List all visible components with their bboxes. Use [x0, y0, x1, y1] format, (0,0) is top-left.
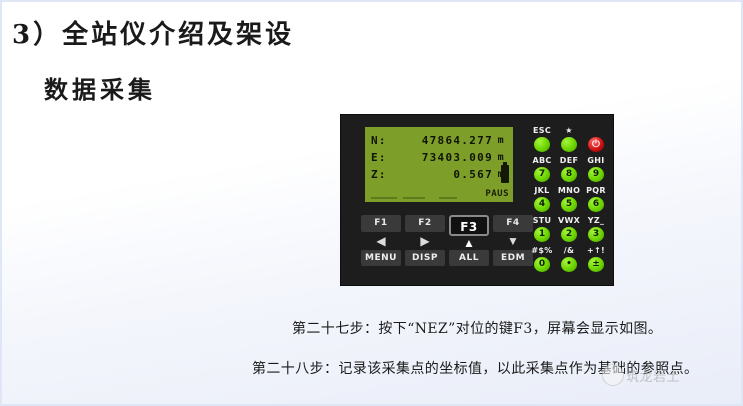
key-decimal-legend: /& [556, 245, 582, 256]
key-3-cap: 3 [588, 227, 604, 242]
arrow-up-icon: ▲ [449, 236, 489, 250]
key-decimal[interactable]: /& • [556, 245, 582, 272]
key-8-cap: 8 [561, 167, 577, 182]
circle-logo-icon [602, 364, 624, 386]
key-1-legend: STU [529, 215, 555, 226]
key-4-legend: JKL [529, 185, 555, 196]
function-key-f2[interactable]: F2 ▶ DISP [405, 215, 445, 266]
power-icon: ⏻ [588, 137, 604, 152]
lcd-softkey-row: PAUS [371, 186, 509, 199]
key-7-legend: ABC [529, 155, 555, 166]
page-subtitle: 数据采集 [44, 70, 156, 105]
key-6-legend: PQR [583, 185, 609, 196]
key-5[interactable]: MNO 5 [556, 185, 582, 212]
key-plusminus-legend: +↑! [583, 245, 609, 256]
key-4-cap: 4 [534, 197, 550, 212]
lcd-value-east: 73403.009 [422, 149, 493, 166]
keypad-row: JKL 4 MNO 5 PQR 6 [529, 185, 609, 215]
function-key-f1-label: F1 [361, 215, 401, 232]
key-0-cap: 0 [534, 257, 550, 272]
key-6[interactable]: PQR 6 [583, 185, 609, 212]
page-title: 3）全站仪介绍及架设 [12, 14, 294, 51]
key-power[interactable]: ⏻ [583, 125, 609, 152]
key-0[interactable]: #$% 0 [529, 245, 555, 272]
key-3-legend: YZ_ [583, 215, 609, 226]
function-key-row: F1 ◀ MENU F2 ▶ DISP F3 ▲ ALL F4 ▼ EDM [361, 215, 531, 277]
key-3[interactable]: YZ_ 3 [583, 215, 609, 242]
lcd-row-north: N: 47864.277 m [371, 132, 507, 149]
battery-full-icon [501, 165, 509, 183]
lcd-unit-north: m [498, 132, 505, 149]
key-2[interactable]: VWX 2 [556, 215, 582, 242]
keypad-row: STU 1 VWX 2 YZ_ 3 [529, 215, 609, 245]
key-2-legend: VWX [556, 215, 582, 226]
key-escape-legend: ESC [529, 125, 555, 136]
key-7-cap: 7 [534, 167, 550, 182]
key-1[interactable]: STU 1 [529, 215, 555, 242]
lcd-softkey-3[interactable] [439, 196, 457, 199]
lcd-label-east: E: [371, 149, 387, 166]
key-9-legend: GHI [583, 155, 609, 166]
key-1-cap: 1 [534, 227, 550, 242]
function-key-f2-label: F2 [405, 215, 445, 232]
arrow-left-icon: ◀ [361, 232, 401, 250]
key-4[interactable]: JKL 4 [529, 185, 555, 212]
key-8-legend: DEF [556, 155, 582, 166]
key-9[interactable]: GHI 9 [583, 155, 609, 182]
key-plusminus[interactable]: +↑! ± [583, 245, 609, 272]
lcd-row-elevation: Z: 0.567 m [371, 166, 507, 183]
function-key-f1-softlabel: MENU [361, 250, 401, 266]
total-station-keypad-panel: N: 47864.277 m E: 73403.009 m Z: 0.567 m… [340, 114, 614, 286]
key-decimal-cap: • [561, 257, 577, 272]
key-8[interactable]: DEF 8 [556, 155, 582, 182]
key-star[interactable]: ★ [556, 125, 582, 152]
function-key-f3[interactable]: F3 ▲ ALL [449, 215, 489, 266]
keypad-row: #$% 0 /& • +↑! ± [529, 245, 609, 275]
watermark-text: 筑龙岩土 [626, 366, 680, 385]
function-key-f1[interactable]: F1 ◀ MENU [361, 215, 401, 266]
slide-canvas: 3）全站仪介绍及架设 数据采集 N: 47864.277 m E: 73403.… [0, 0, 743, 406]
key-plusminus-cap: ± [588, 257, 604, 272]
keypad-row: ABC 7 DEF 8 GHI 9 [529, 155, 609, 185]
lcd-value-north: 47864.277 [422, 132, 493, 149]
star-icon: ★ [556, 125, 582, 136]
key-5-cap: 5 [561, 197, 577, 212]
numeric-keypad: ESC ★ ⏻ ABC 7 DEF 8 [529, 125, 609, 277]
lcd-softkey-2[interactable] [403, 196, 425, 199]
key-0-legend: #$% [529, 245, 555, 256]
key-star-cap [561, 137, 577, 152]
lcd-row-east: E: 73403.009 m [371, 149, 507, 166]
caption-step-27: 第二十七步：按下“NEZ”对位的键F3，屏幕会显示如图。 [292, 318, 662, 338]
function-key-f4[interactable]: F4 ▼ EDM [493, 215, 533, 266]
lcd-display: N: 47864.277 m E: 73403.009 m Z: 0.567 m… [365, 127, 513, 202]
function-key-f3-label: F3 [449, 215, 489, 236]
watermark: 筑龙岩土 [602, 360, 734, 390]
lcd-softkey-pause[interactable]: PAUS [485, 189, 509, 199]
arrow-right-icon: ▶ [405, 232, 445, 250]
key-escape-cap [534, 137, 550, 152]
function-key-f3-softlabel: ALL [449, 250, 489, 266]
function-key-f2-softlabel: DISP [405, 250, 445, 266]
arrow-down-icon: ▼ [493, 232, 533, 250]
lcd-value-elevation: 0.567 [453, 166, 493, 183]
function-key-f4-label: F4 [493, 215, 533, 232]
key-2-cap: 2 [561, 227, 577, 242]
key-7[interactable]: ABC 7 [529, 155, 555, 182]
lcd-label-north: N: [371, 132, 387, 149]
lcd-label-elevation: Z: [371, 166, 387, 183]
key-escape[interactable]: ESC [529, 125, 555, 152]
key-9-cap: 9 [588, 167, 604, 182]
key-6-cap: 6 [588, 197, 604, 212]
keypad-row: ESC ★ ⏻ [529, 125, 609, 155]
key-5-legend: MNO [556, 185, 582, 196]
key-power-legend [583, 125, 609, 136]
lcd-softkey-1[interactable] [371, 196, 397, 199]
function-key-f4-softlabel: EDM [493, 250, 533, 266]
